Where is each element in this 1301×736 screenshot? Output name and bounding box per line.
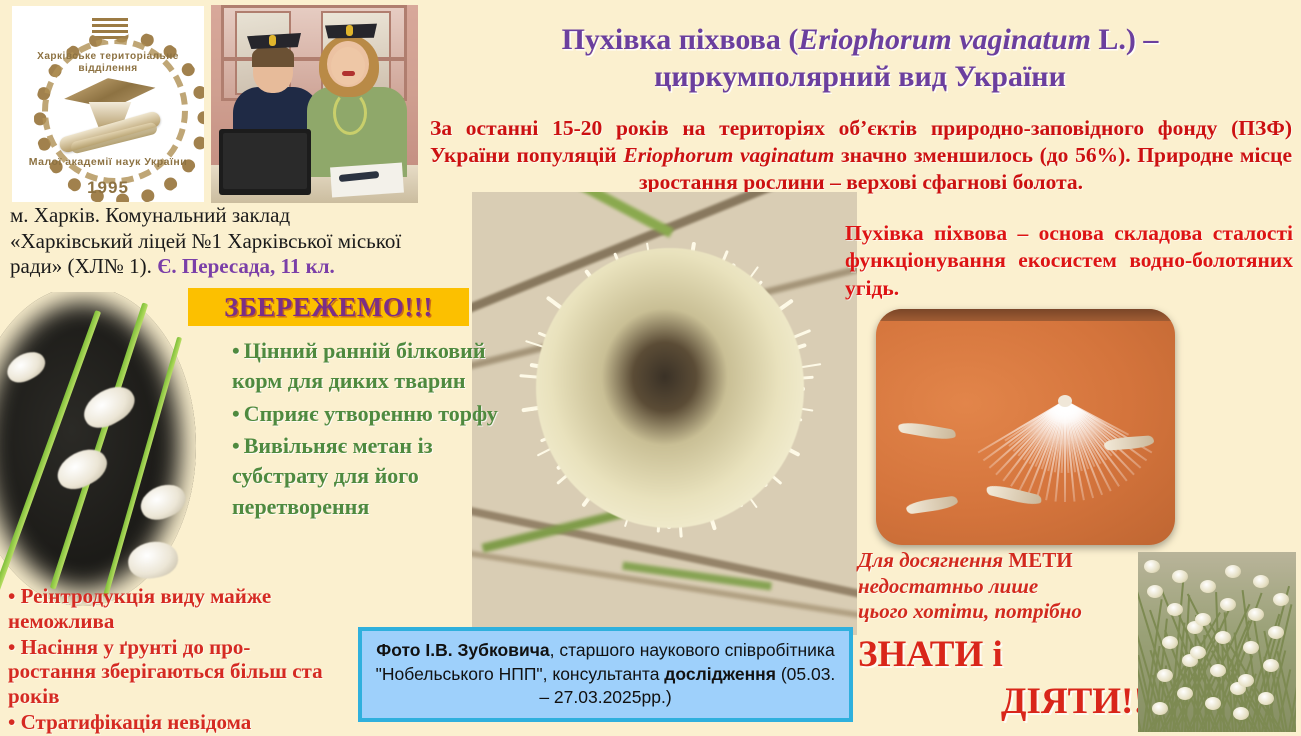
list-item: •Цінний ранній білковий корм для диких т… — [232, 336, 500, 397]
benefit-text: Цінний ранній білковий корм для диких тв… — [232, 338, 486, 393]
photo-cotton-puffs — [1138, 552, 1296, 732]
call-to-action: Для досягнення МЕТИ недостатньо лише цьо… — [858, 548, 1158, 723]
seed-pappus-photo — [876, 309, 1175, 545]
poster-title: Пухівка піхвова (Eriophorum vaginatum L.… — [430, 22, 1290, 95]
photo-teacher-cap-tassel — [346, 25, 353, 36]
threat-text: Реінтродукція виду майже неможлива — [8, 584, 271, 633]
list-item: •Вивільняє метан із субстрату для його п… — [232, 431, 500, 522]
cta-line-two: недостатньо лише — [858, 574, 1038, 598]
cta-line-one-emphasis: МЕТИ — [1008, 548, 1072, 572]
photo-shelf-line — [221, 57, 407, 61]
list-item: • Реінтродукція виду майже неможлива — [8, 584, 338, 634]
left-plant-photo — [0, 292, 215, 608]
center-cottongrass-photo — [472, 192, 857, 635]
photo-seedhead — [536, 248, 804, 528]
bullet-icon: • — [232, 338, 240, 363]
intro-paragraph: За останні 15-20 років на територіях об’… — [430, 115, 1292, 196]
title-line-two: циркумполярний вид України — [654, 60, 1066, 93]
school-attribution: м. Харків. Комунальний заклад «Харківськ… — [10, 203, 470, 280]
bullet-icon: • — [8, 710, 15, 734]
cta-lines: Для досягнення МЕТИ недостатньо лише цьо… — [858, 548, 1158, 625]
author-name: Є. Пересада, 11 кл. — [157, 254, 335, 278]
title-suffix: L.) – — [1091, 23, 1159, 56]
threats-list: • Реінтродукція виду майже неможлива • Н… — [8, 584, 338, 736]
logo-arc-top-text: Харківське територіальне відділення — [16, 50, 200, 74]
credit-photo-label: Фото — [376, 640, 425, 660]
photo-teacher-lips — [342, 71, 355, 76]
credit-research-label: дослідження — [664, 664, 776, 684]
photo-student-cap-tassel — [269, 35, 276, 46]
benefit-text: Вивільняє метан із субстрату для його пе… — [232, 433, 433, 519]
logo-arc-bottom-text: Малої академії наук України — [12, 156, 204, 168]
photo-credit-text: Фото І.В. Зубковича, старшого наукового … — [372, 639, 839, 709]
bullet-icon: • — [232, 401, 240, 426]
list-item: • Насіння у ґрунті до про-ростання збері… — [8, 635, 338, 709]
photo-teacher-necklace — [333, 91, 367, 135]
threat-text: Стратифікація невідома — [21, 710, 252, 734]
credit-author-name: І.В. Зубковича — [425, 640, 549, 660]
cta-act: ДІЯТИ!!! — [858, 680, 1158, 723]
photo-laptop-screen — [223, 133, 307, 189]
team-photo — [211, 5, 418, 203]
banner-label: ЗБЕРЕЖЕМО!!! — [224, 292, 433, 323]
photo-teacher-face — [331, 47, 365, 85]
bullet-icon: • — [8, 635, 15, 659]
cta-know: ЗНАТИ і — [858, 633, 1158, 676]
benefits-list: •Цінний ранній білковий корм для диких т… — [232, 336, 500, 524]
title-scientific-name: Eriophorum vaginatum — [798, 23, 1091, 56]
title-prefix: Пухівка піхвова ( — [562, 23, 799, 56]
intro-scientific-name: Eriophorum vaginatum — [623, 143, 834, 167]
bullet-icon: • — [8, 584, 15, 608]
logo-year: 1995 — [12, 178, 204, 198]
benefit-text: Сприяє утворенню торфу — [244, 401, 498, 426]
photo-tray-rim — [876, 309, 1175, 321]
photo-pappus-hub — [1058, 395, 1072, 407]
school-line-three-prefix: ради» (ХЛ№ 1). — [10, 254, 157, 278]
claim-paragraph: Пухівка піхвова – основа складова сталос… — [845, 220, 1293, 302]
school-line-two: «Харківський ліцей №1 Харківської місько… — [10, 229, 401, 253]
list-item: •Сприяє утворенню торфу — [232, 399, 500, 429]
bullet-icon: • — [232, 433, 240, 458]
cta-line-three: цього хотіти, потрібно — [858, 599, 1082, 623]
poster-canvas: Харківське територіальне відділення Мало… — [0, 0, 1301, 732]
threat-text: Насіння у ґрунті до про-ростання зберіга… — [8, 635, 323, 709]
school-line-one: м. Харків. Комунальний заклад — [10, 203, 290, 227]
man-academy-logo: Харківське територіальне відділення Мало… — [12, 6, 204, 202]
bog-field-photo — [1138, 552, 1296, 732]
list-item: • Стратифікація невідома — [8, 710, 338, 735]
cta-line-one-italic: Для досягнення — [858, 548, 1008, 572]
save-it-banner: ЗБЕРЕЖЕМО!!! — [188, 288, 469, 326]
photo-credit-box: Фото І.В. Зубковича, старшого наукового … — [358, 627, 853, 722]
